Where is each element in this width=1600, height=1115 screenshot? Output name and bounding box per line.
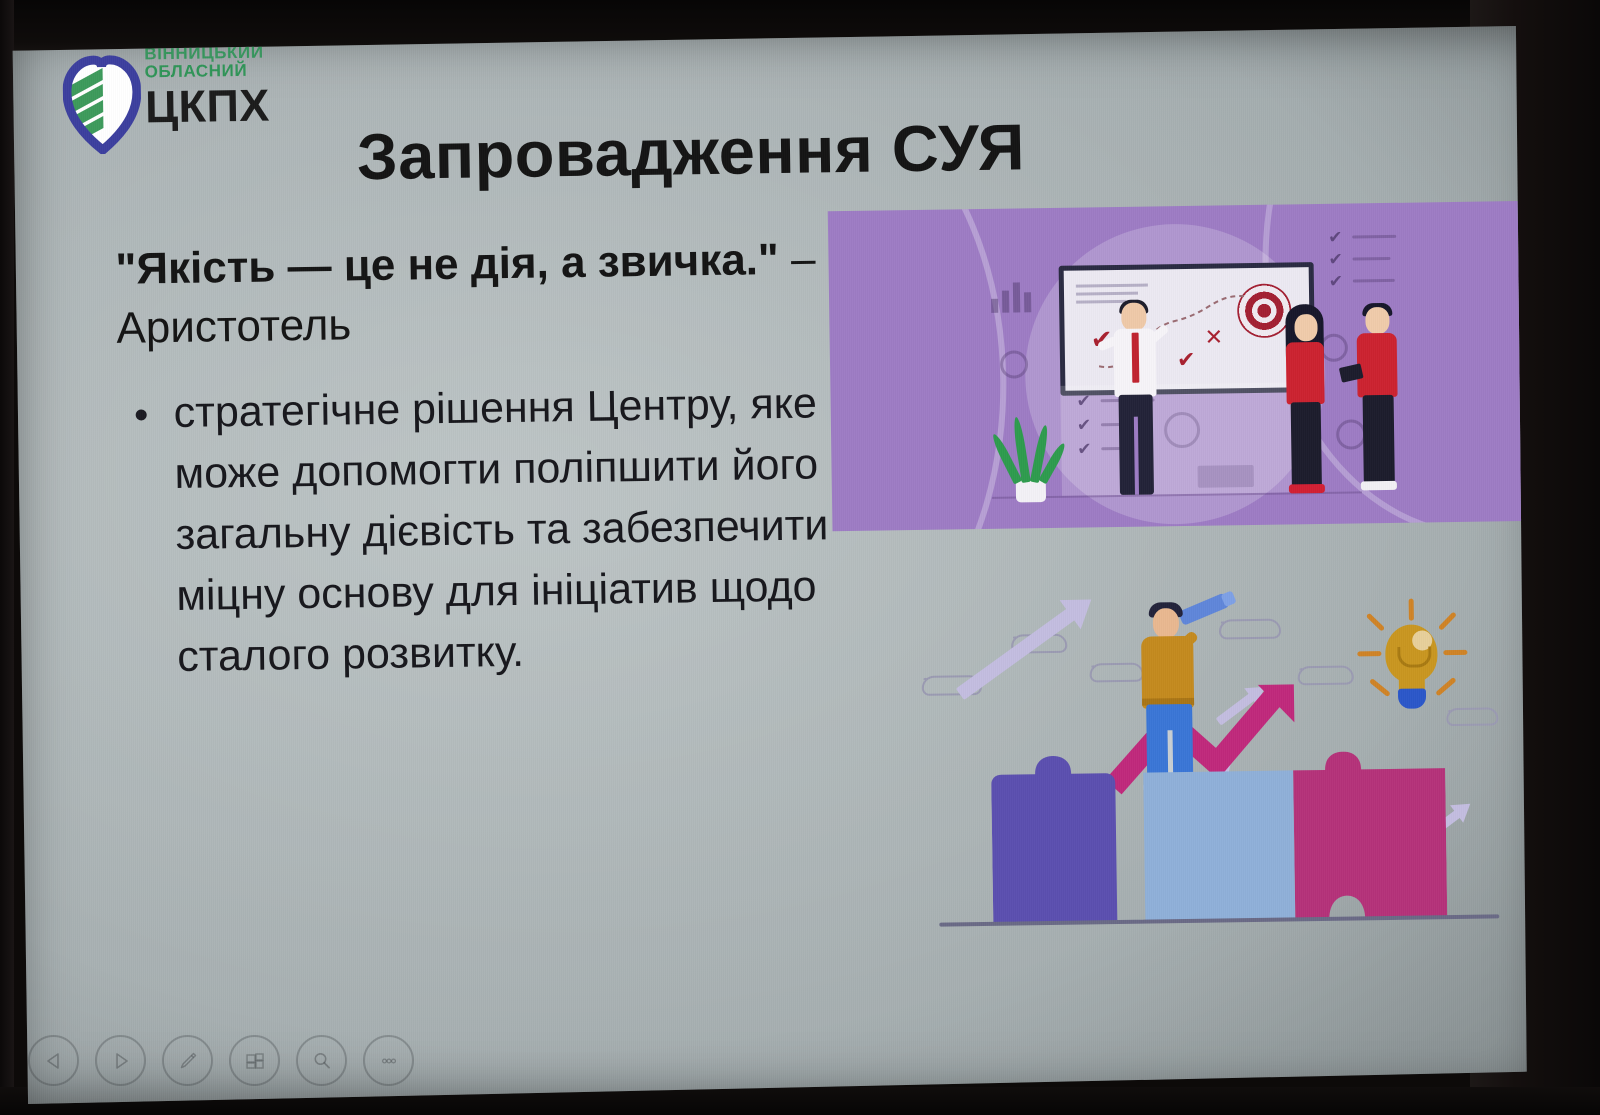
- all-slides-button[interactable]: [229, 1035, 280, 1086]
- projection-room: ВІННИЦЬКИЙ ОБЛАСНИЙ ЦКПХ Запровадження С…: [0, 0, 1600, 1115]
- previous-slide-button[interactable]: [28, 1035, 79, 1086]
- triangle-left-icon: [45, 1052, 63, 1070]
- puzzle-piece-magenta: [1293, 750, 1447, 920]
- puzzle-piece-lightblue: [1143, 752, 1295, 922]
- aristotle-quote: "Якість — це не дія, а звичка." – Аристо…: [115, 230, 837, 358]
- bar-chart-icon: [991, 278, 1037, 313]
- slide-body-column: "Якість — це не дія, а звичка." – Аристо…: [115, 230, 842, 689]
- heart-shield-icon: [62, 53, 141, 154]
- slide-title: Запровадження СУЯ: [356, 111, 1227, 191]
- pen-icon: [177, 1050, 199, 1072]
- presenter-person: [1105, 302, 1168, 495]
- ellipsis-icon: [378, 1050, 400, 1072]
- organization-logo: ВІННИЦЬКИЙ ОБЛАСНИЙ ЦКПХ: [62, 37, 314, 166]
- info-circle-icon-a: [1000, 350, 1028, 378]
- man-with-tablet-person: [1349, 303, 1408, 494]
- quote-text: "Якість — це не дія, а звичка.": [115, 235, 779, 294]
- next-slide-button[interactable]: [95, 1035, 146, 1086]
- more-options-button[interactable]: [363, 1035, 414, 1086]
- telescope-icon: [1178, 593, 1230, 626]
- magnifier-icon: [311, 1050, 333, 1072]
- bullet-list: стратегічне рішення Центру, яке може доп…: [117, 373, 841, 689]
- presentation-slide: ВІННИЦЬКИЙ ОБЛАСНИЙ ЦКПХ Запровадження С…: [8, 26, 1553, 1104]
- decorative-arc-left: [828, 201, 1005, 531]
- list-item: стратегічне рішення Центру, яке може доп…: [117, 373, 841, 689]
- slides-grid-icon: [244, 1050, 266, 1072]
- triangle-right-icon: [112, 1052, 130, 1070]
- presenter-toolbar[interactable]: [28, 1035, 414, 1086]
- logo-wordmark: ВІННИЦЬКИЙ ОБЛАСНИЙ ЦКПХ: [144, 43, 315, 129]
- logo-line-2: ОБЛАСНИЙ: [144, 61, 314, 81]
- projection-screen: ВІННИЦЬКИЙ ОБЛАСНИЙ ЦКПХ Запровадження С…: [8, 26, 1553, 1104]
- logo-abbreviation: ЦКПХ: [145, 82, 316, 130]
- room-dark-left-band: [0, 0, 14, 1115]
- woman-person: [1277, 308, 1336, 495]
- zoom-button[interactable]: [296, 1035, 347, 1086]
- pen-tool-button[interactable]: [162, 1035, 213, 1086]
- whiteboard-lower-panel: ✔ ✔ ✔: [1060, 382, 1307, 496]
- puzzle-piece-purple: [991, 755, 1145, 925]
- lightbulb-icon: [1351, 598, 1473, 726]
- strategy-board-illustration: ✕ ✕ ✔ ✔ ✔ ✔ ✔: [828, 201, 1523, 531]
- puzzle-growth-illustration: [898, 571, 1514, 970]
- potted-plant: [999, 404, 1062, 503]
